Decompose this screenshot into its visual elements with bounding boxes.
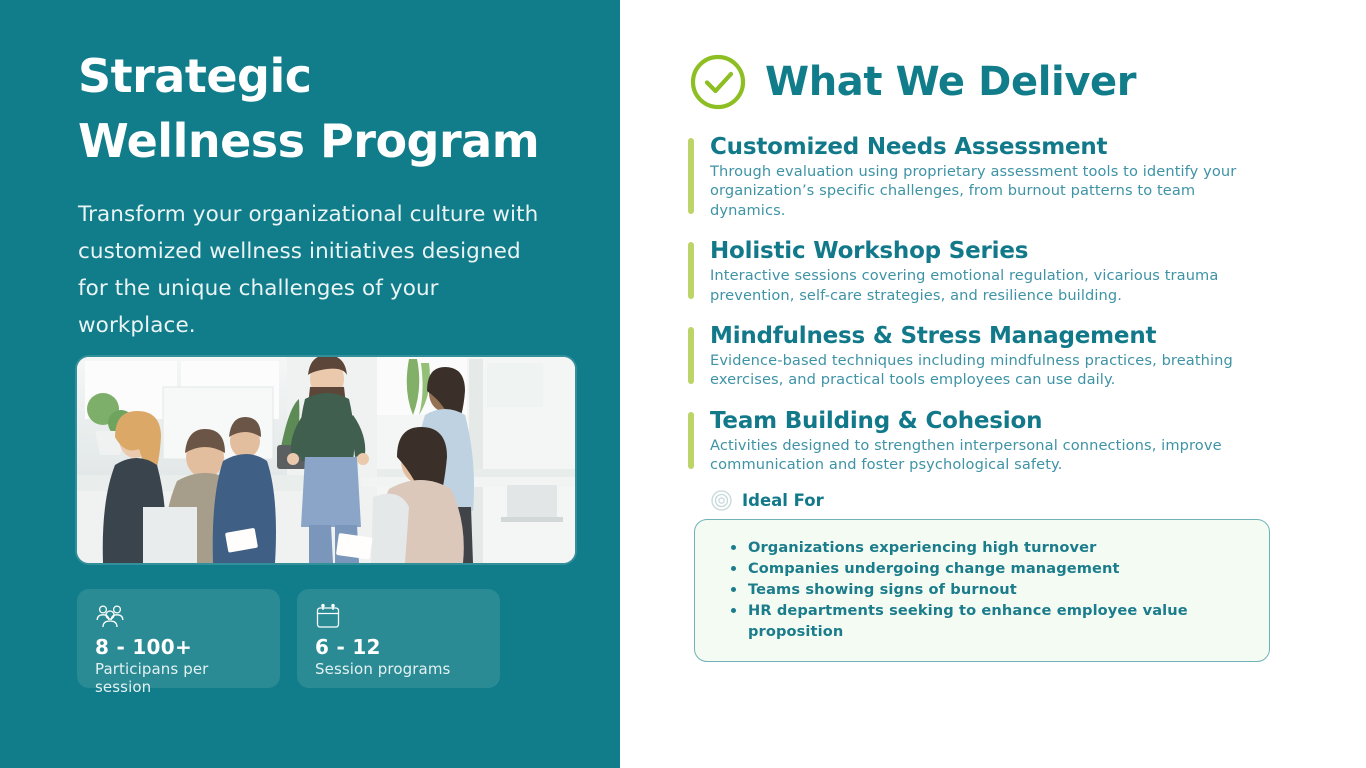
deliverables-list: Customized Needs Assessment Through eval…	[688, 134, 1270, 493]
check-circle-icon	[688, 52, 748, 112]
list-item: Organizations experiencing high turnover	[731, 537, 1243, 558]
right-panel: What We Deliver Customized Needs Assessm…	[620, 0, 1366, 768]
stat-value: 8 - 100+	[95, 635, 264, 659]
deliverable-item: Mindfulness & Stress Management Evidence…	[688, 323, 1270, 390]
stat-card-sessions: 6 - 12 Session programs	[297, 589, 500, 688]
deliverable-description: Activities designed to strengthen interp…	[710, 436, 1270, 475]
ideal-for-list: Organizations experiencing high turnover…	[731, 537, 1243, 643]
stat-label: Session programs	[315, 660, 484, 678]
target-icon	[710, 489, 733, 512]
deliver-title: What We Deliver	[765, 59, 1136, 105]
ideal-for-header: Ideal For	[688, 489, 1270, 512]
deliverable-description: Evidence-based techniques including mind…	[710, 351, 1270, 390]
deliverable-item: Customized Needs Assessment Through eval…	[688, 134, 1270, 220]
list-item: Companies undergoing change management	[731, 558, 1243, 579]
participants-group-icon	[95, 601, 264, 631]
page-subtitle: Transform your organizational culture wi…	[78, 197, 556, 345]
stat-label: Participans per session	[95, 660, 264, 696]
deliverable-title: Team Building & Cohesion	[710, 408, 1270, 434]
list-item: HR departments seeking to enhance employ…	[731, 600, 1243, 642]
deliverable-title: Holistic Workshop Series	[710, 238, 1270, 264]
deliverable-title: Mindfulness & Stress Management	[710, 323, 1270, 349]
ideal-for-box: Organizations experiencing high turnover…	[694, 519, 1270, 663]
left-panel: Strategic Wellness Program Transform you…	[0, 0, 620, 768]
deliverable-item: Team Building & Cohesion Activities desi…	[688, 408, 1270, 475]
ideal-for-label: Ideal For	[742, 491, 824, 510]
deliverable-item: Holistic Workshop Series Interactive ses…	[688, 238, 1270, 305]
stat-card-participants: 8 - 100+ Participans per session	[77, 589, 280, 688]
stat-value: 6 - 12	[315, 635, 484, 659]
deliver-header: What We Deliver	[688, 52, 1270, 112]
office-team-meeting-photo	[77, 357, 575, 563]
stat-cards: 8 - 100+ Participans per session 6 - 12 …	[77, 589, 500, 688]
page-title: Strategic Wellness Program	[78, 44, 548, 175]
deliverable-title: Customized Needs Assessment	[710, 134, 1270, 160]
calendar-icon	[315, 601, 484, 631]
deliverable-description: Interactive sessions covering emotional …	[710, 266, 1270, 305]
deliverable-description: Through evaluation using proprietary ass…	[710, 162, 1270, 220]
list-item: Teams showing signs of burnout	[731, 579, 1243, 600]
